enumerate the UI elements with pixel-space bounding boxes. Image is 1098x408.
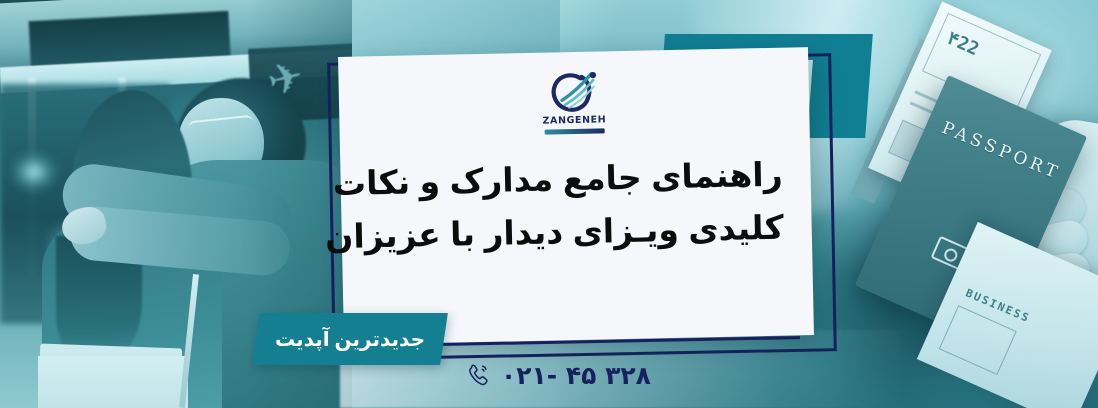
terminal-glass-wall [0,84,170,324]
person-b-glasses [187,115,254,138]
airplane-icon: ✈ [263,54,307,103]
terminal-ceiling [0,0,352,84]
terminal-pillar [118,78,126,278]
terminal-pillar [28,78,36,278]
person-b-hand [59,204,110,248]
latest-update-badge-label: جدیدترین آپدیت [262,322,438,356]
brand-tagline-bar [545,128,605,134]
terminal-light-glow [36,214,104,272]
phone-number: ۰۲۱- ۴۵ ۳۲۸ [501,363,651,388]
content-card: ZANGENEH راهنمای جامع مدارک و نکات کلیدی… [338,47,814,345]
terminal-light-glow [8,150,60,194]
terminal-dark-panel [29,11,232,81]
terminal-beam [0,49,352,94]
brand-name: ZANGENEH [543,115,607,126]
person-b-arm-lower [68,205,292,278]
promo-banner: ✈ ۴22 PASSPORT BU [0,0,1098,408]
phone-ringing-icon [466,362,492,388]
passport-label: PASSPORT [939,118,1064,184]
person-b-arm-upper [59,160,295,253]
page-title: راهنمای جامع مدارک و نکات کلیدی ویـزای د… [368,147,784,263]
person-b-hair [176,78,306,208]
contact-phone[interactable]: ۰۲۱- ۴۵ ۳۲۸ [466,362,651,388]
person-a-hair [72,90,192,280]
headline-line-1: راهنمای جامع مدارک و نکات [368,147,783,209]
zangeneh-globe-swoosh-logo [547,69,600,114]
person-b-face [178,98,264,190]
headline-line-2: کلیدی ویـزای دیدار با عزیزان [369,201,784,263]
brand-logo[interactable]: ZANGENEH [530,69,617,134]
